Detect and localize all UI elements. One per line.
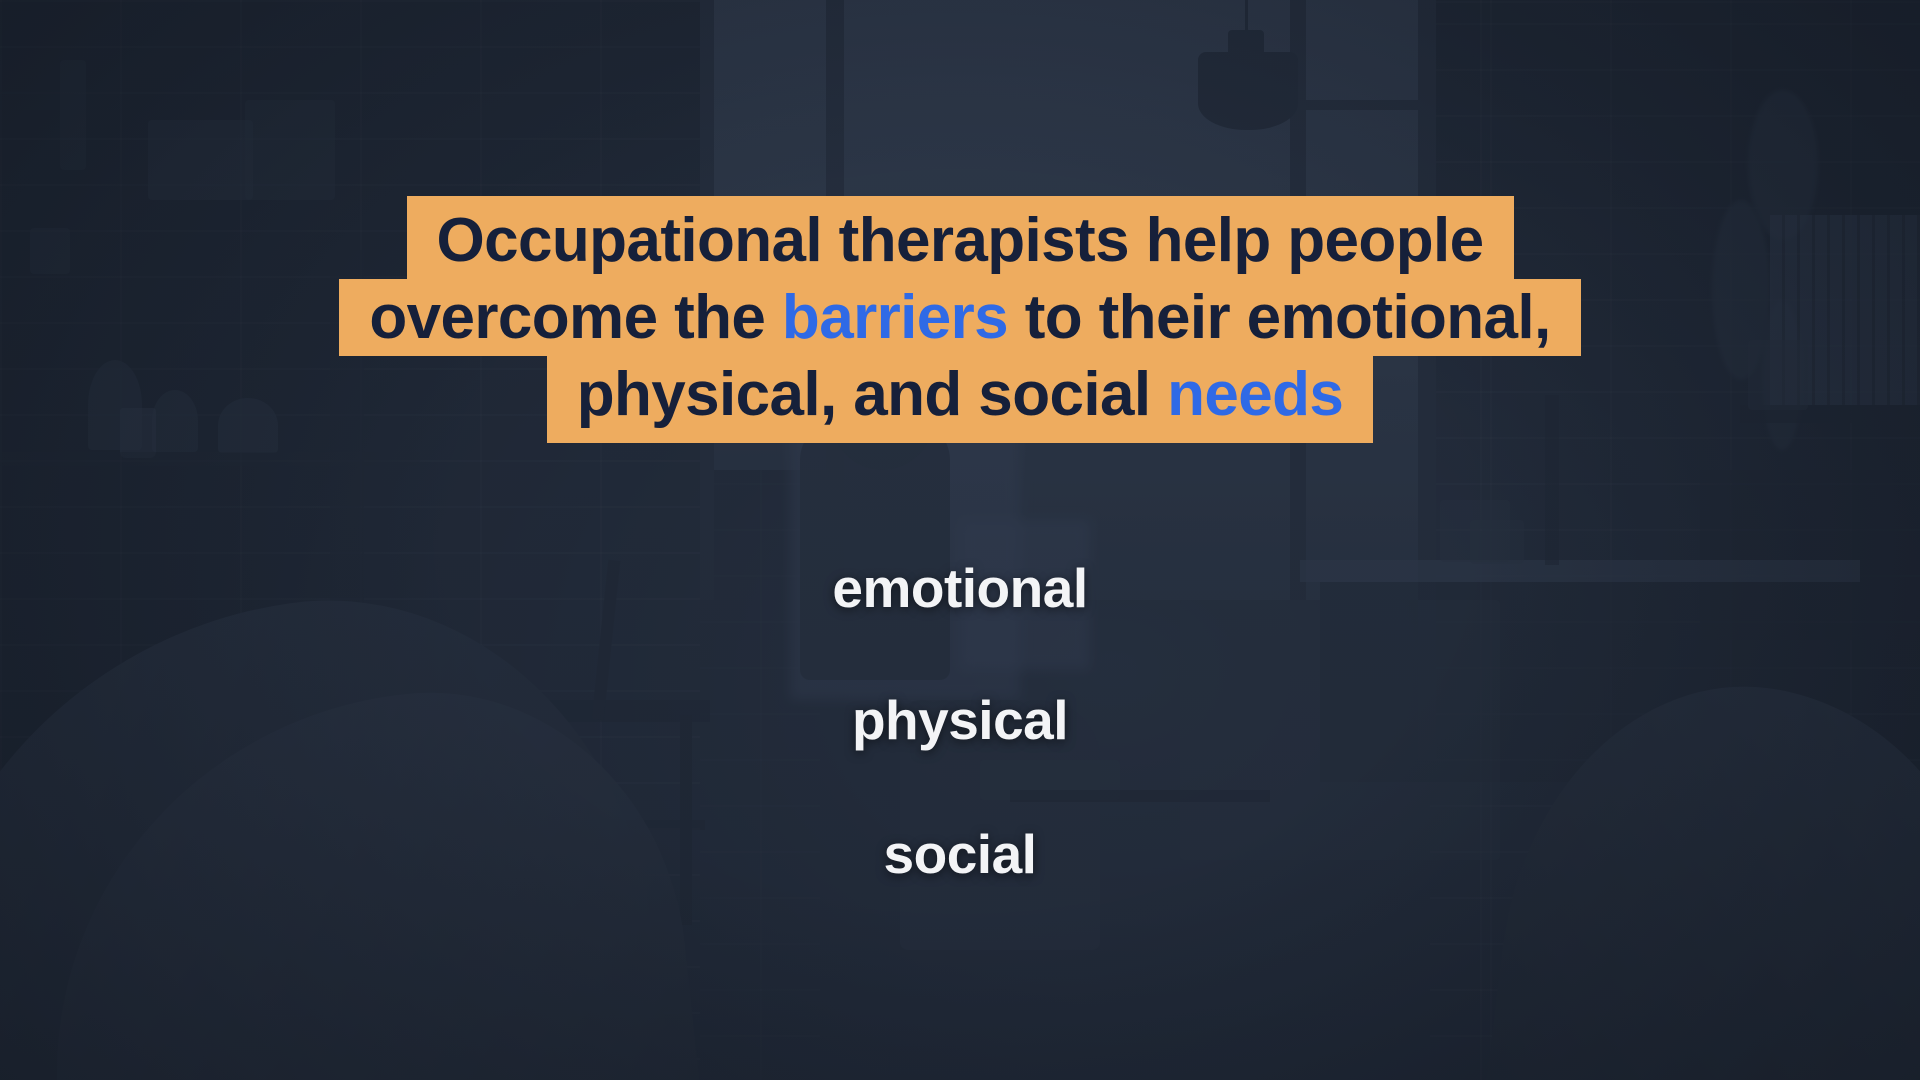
need-item-physical: physical <box>0 688 1920 752</box>
background-scene <box>0 0 1920 1080</box>
headline-line-2-before: overcome the <box>369 283 782 352</box>
headline-line-3-before: physical, and social <box>577 360 1167 429</box>
headline-keyword-barriers: barriers <box>782 283 1008 352</box>
need-item-emotional: emotional <box>0 556 1920 620</box>
need-item-social: social <box>0 822 1920 886</box>
slide-canvas: Occupational therapists help people over… <box>0 0 1920 1080</box>
headline-line-2: overcome the barriers to their emotional… <box>0 279 1920 356</box>
headline-line-3-highlight: physical, and social needs <box>547 356 1374 443</box>
headline-line-2-highlight: overcome the barriers to their emotional… <box>339 279 1580 356</box>
headline-line-1: Occupational therapists help people <box>0 196 1920 279</box>
headline-block: Occupational therapists help people over… <box>0 196 1920 443</box>
headline-line-3: physical, and social needs <box>0 356 1920 443</box>
headline-keyword-needs: needs <box>1167 360 1343 429</box>
headline-line-1-highlight: Occupational therapists help people <box>407 196 1514 279</box>
headline-line-2-after: to their emotional, <box>1008 283 1551 352</box>
background-vignette <box>0 0 1920 1080</box>
headline-line-1-text: Occupational therapists help people <box>437 206 1484 275</box>
